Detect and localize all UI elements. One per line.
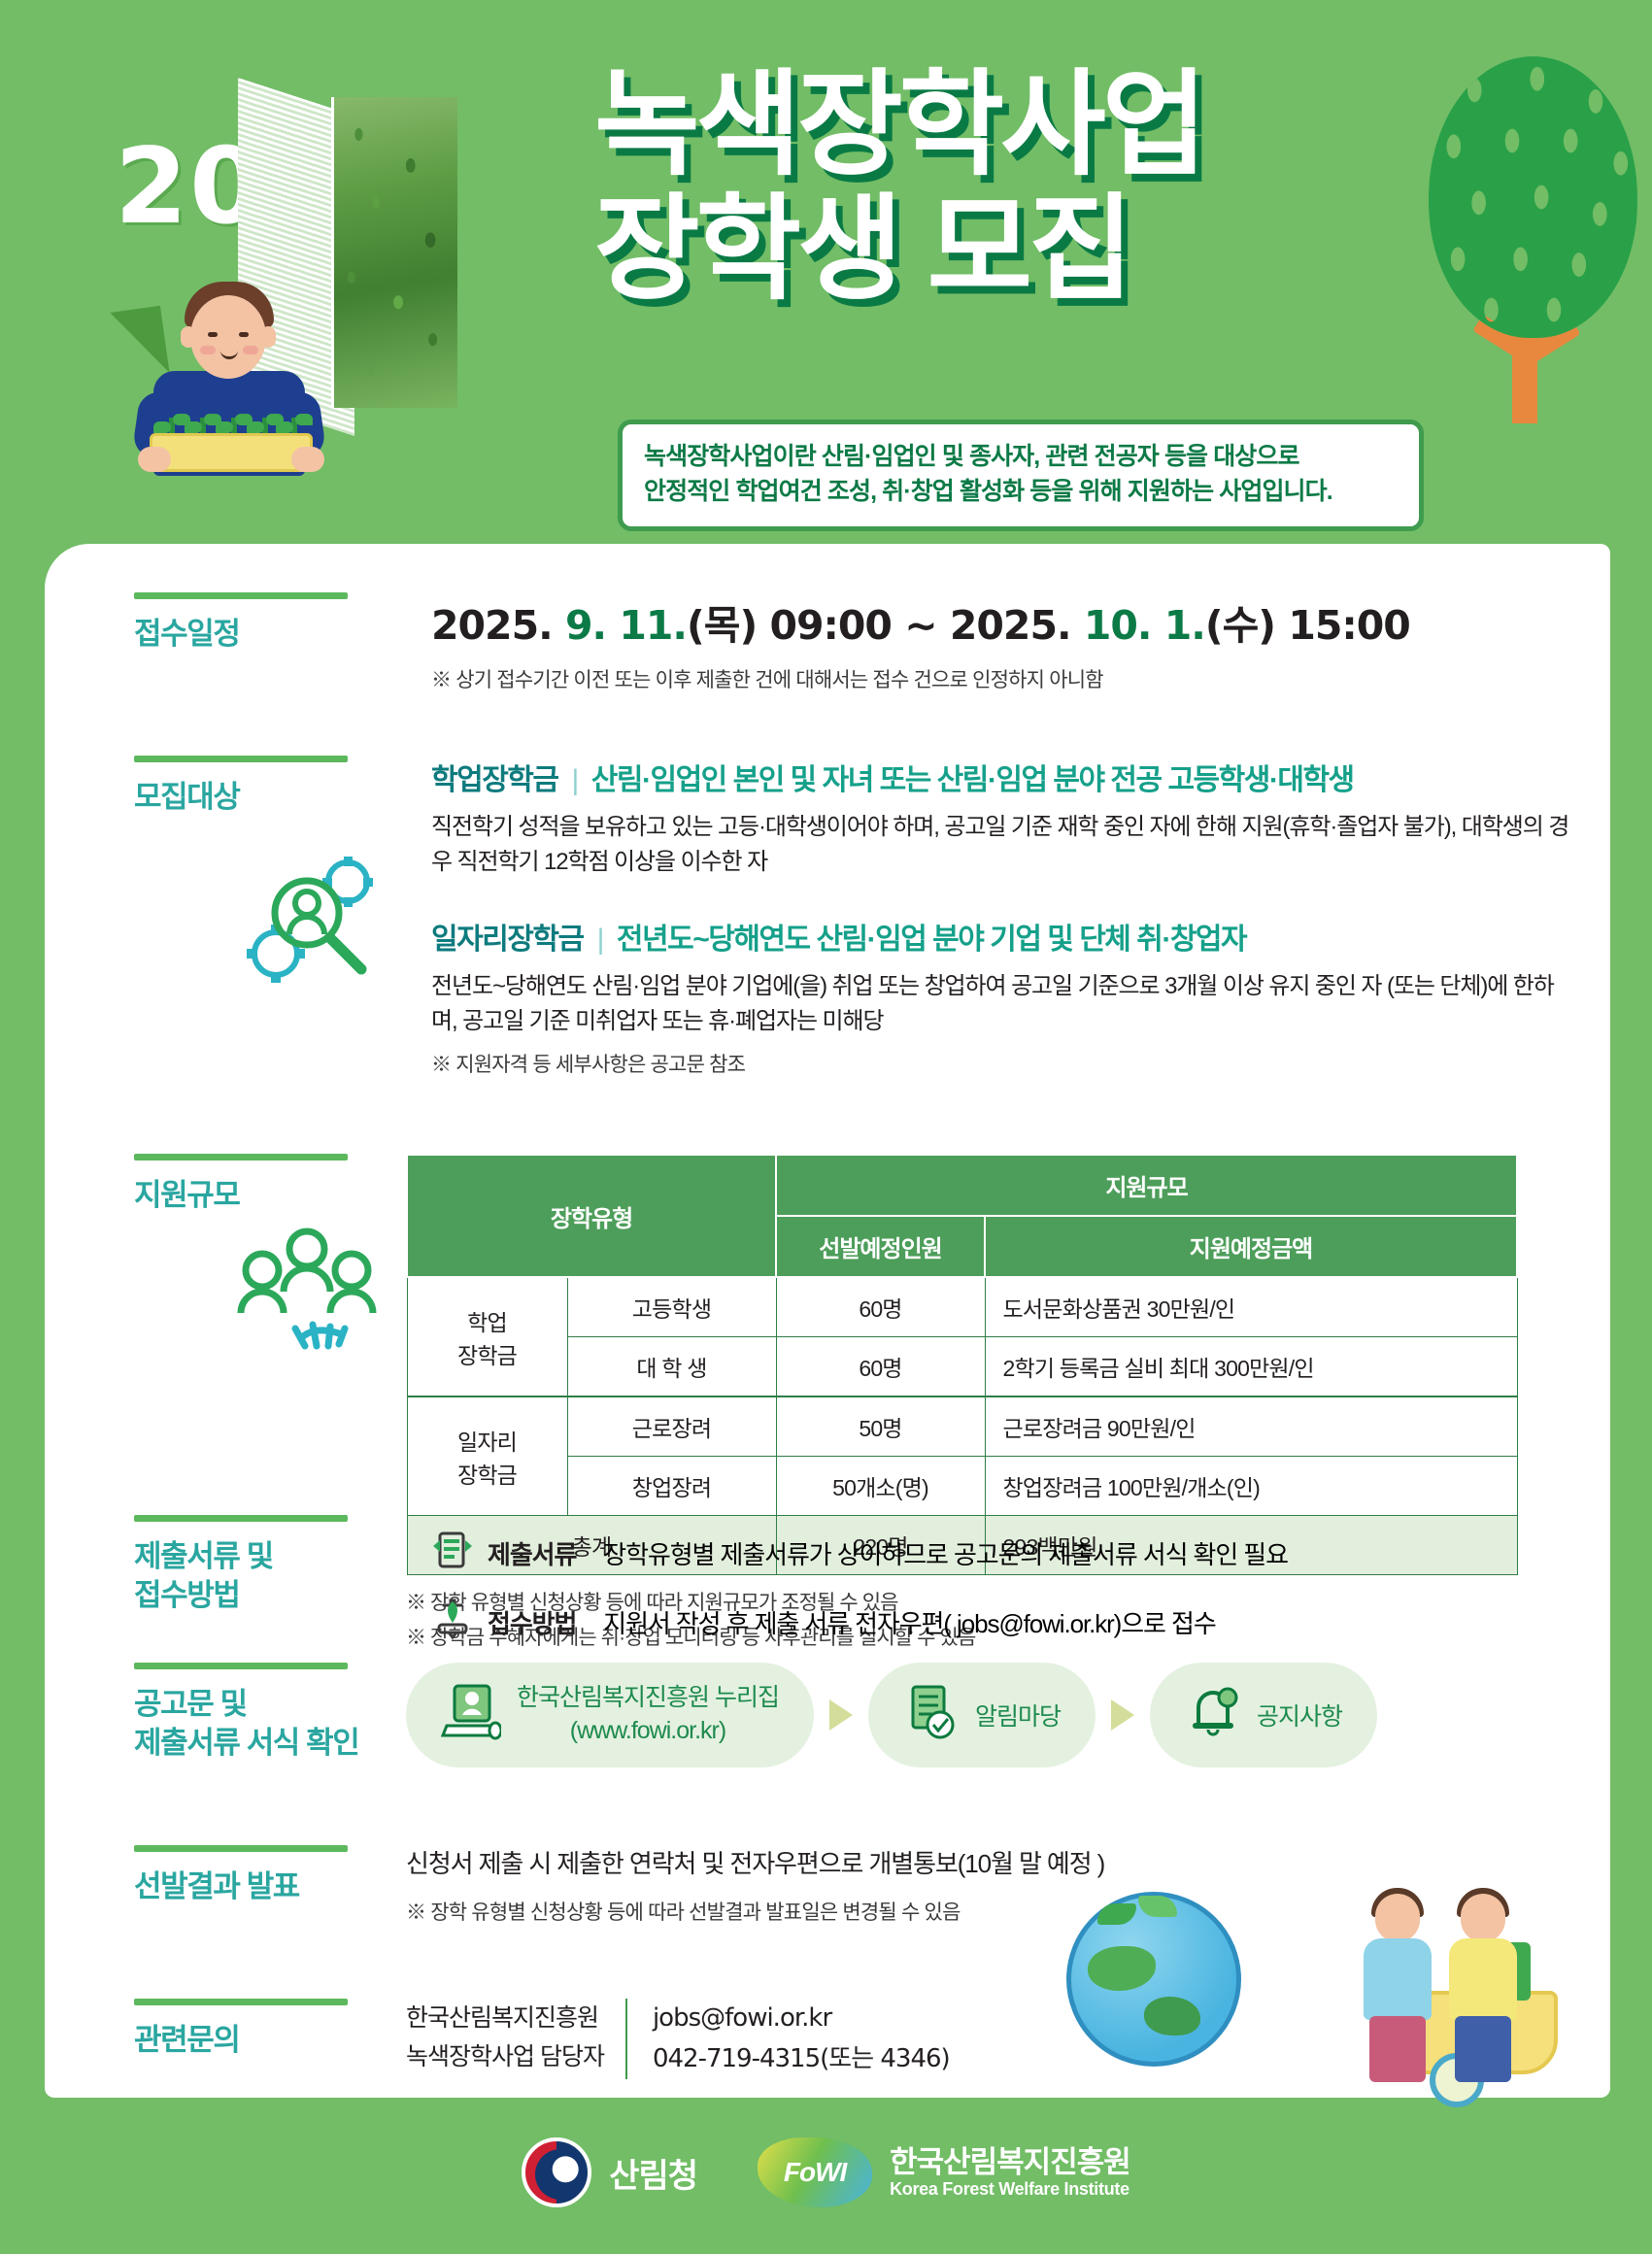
- subtitle-line-2: 안정적인 학업여건 조성, 취·창업 활성화 등을 위해 지원하는 사업입니다.: [644, 475, 1398, 510]
- fowi-name-ko: 한국산림복지진흥원: [890, 2145, 1130, 2180]
- th-planned-amount: 지원예정금액: [985, 1216, 1517, 1277]
- cell-count: 60명: [776, 1337, 985, 1397]
- cell-count: 50개소(명): [776, 1457, 985, 1516]
- person-with-seedlings-illustration: [107, 270, 369, 484]
- table-row: 창업장려 50개소(명) 창업장려금 100만원/개소(인): [407, 1457, 1517, 1516]
- arrow-right-icon: [829, 1699, 853, 1731]
- title-line-1: 녹색장학사업: [594, 66, 1449, 186]
- korea-forest-service-logo: 산림청: [522, 2137, 697, 2207]
- divider-bar-icon: |: [584, 924, 617, 956]
- cell-type: 창업장려: [567, 1457, 776, 1516]
- table-row: 학업장학금 고등학생 60명 도서문화상품권 30만원/인: [407, 1277, 1517, 1337]
- target-content: 학업장학금|산림·임업인 본인 및 자녀 또는 산림·임업 분야 전공 고등학생…: [431, 756, 1577, 1078]
- notice-label-col: 공고문 및 제출서류 서식 확인: [134, 1663, 382, 1762]
- documents-content: 제출서류 장학유형별 제출서류가 상이하므로 공고문의 제출서류 서식 확인 필…: [431, 1529, 1577, 1647]
- taeguk-icon: [522, 2137, 591, 2207]
- section-divider: [134, 1999, 348, 2005]
- cell-type: 고등학생: [567, 1277, 776, 1337]
- schedule-date-line: 2025. 9. 11.(목) 09:00 ~ 2025. 10. 1.(수) …: [431, 592, 1577, 651]
- bell-icon: [1185, 1684, 1241, 1747]
- upload-mail-icon: [431, 1598, 474, 1647]
- cell-group-academic: 학업장학금: [407, 1277, 567, 1396]
- cell-amount-unit: 개소(인): [1187, 1475, 1260, 1500]
- globe-people-illustration: [1037, 1816, 1581, 2107]
- submission-method-row: 접수방법 지원서 작성 후 제출 서류 전자우편( jobs@fowi.or.k…: [431, 1598, 1577, 1647]
- contact-label: 관련문의: [134, 2021, 382, 2060]
- target-item2-desc: 전년도~당해연도 산림·임업 분야 기업 및 단체 취·창업자: [617, 924, 1246, 956]
- scale-label: 지원규모: [134, 1176, 382, 1215]
- poster-footer: 산림청 FoWI 한국산림복지진흥원 Korea Forest Welfare …: [0, 2137, 1652, 2207]
- target-item1-head: 학업장학금|산림·임업인 본인 및 자녀 또는 산림·임업 분야 전공 고등학생…: [431, 756, 1577, 798]
- documents-required-text: 장학유형별 제출서류가 상이하므로 공고문의 제출서류 서식 확인 필요: [603, 1535, 1288, 1571]
- document-check-icon: [903, 1684, 960, 1747]
- pill-announcements-text: 공지사항: [1257, 1698, 1342, 1733]
- target-item2-body: 전년도~당해연도 산림·임업 분야 기업에(을) 취업 또는 창업하여 공고일 …: [431, 969, 1577, 1039]
- poster-header: 2025 녹색장학사업 장학생 모집 녹색장학사업이란 산림·임업인 및 종사자…: [0, 0, 1652, 563]
- pill-notice-board[interactable]: 알림마당: [868, 1663, 1096, 1767]
- cell-type: 근로장려: [567, 1396, 776, 1457]
- laptop-user-icon: [441, 1683, 501, 1748]
- table-row: 대 학 생 60명 2학기 등록금 실비 최대 300만원/인: [407, 1337, 1517, 1397]
- th-scholarship-type: 장학유형: [407, 1155, 776, 1277]
- documents-label-line1: 제출서류 및: [134, 1539, 273, 1573]
- pill-fowi-line2: (www.fowi.or.kr): [570, 1717, 725, 1744]
- document-list-icon: [431, 1529, 474, 1578]
- th-support-scale: 지원규모: [776, 1155, 1517, 1216]
- notice-content: 한국산림복지진흥원 누리집 (www.fowi.or.kr): [406, 1663, 1552, 1767]
- section-documents: 제출서류 및 접수방법 제출서류 장학유형별 제출서류가 상이하므로 공고문의 …: [45, 1515, 1610, 1653]
- person-search-gears-icon: [239, 853, 385, 993]
- documents-required-row: 제출서류 장학유형별 제출서류가 상이하므로 공고문의 제출서류 서식 확인 필…: [431, 1529, 1577, 1578]
- pill-announcements[interactable]: 공지사항: [1150, 1663, 1377, 1767]
- date-start-rest: (목) 09:00 ~ 2025.: [687, 602, 1084, 649]
- content-card: 접수일정 2025. 9. 11.(목) 09:00 ~ 2025. 10. 1…: [45, 544, 1610, 2098]
- th-planned-count: 선발예정인원: [776, 1216, 985, 1277]
- cell-amount-text: 도서문화상품권 30만원/: [1003, 1296, 1215, 1322]
- target-label-col: 모집대상: [134, 756, 382, 817]
- contact-phone[interactable]: 042-719-4315(또는 4346): [653, 2039, 950, 2080]
- cell-amount-text: 근로장려금 90만원/: [1003, 1416, 1176, 1441]
- target-item1-desc: 산림·임업인 본인 및 자녀 또는 산림·임업 분야 전공 고등학생·대학생: [591, 764, 1354, 796]
- schedule-note: ※ 상기 접수기간 이전 또는 이후 제출한 건에 대해서는 접수 건으로 인정…: [431, 664, 1577, 693]
- tree-illustration: [1419, 56, 1652, 416]
- notice-label-line1: 공고문 및: [134, 1687, 247, 1721]
- cell-amount: 2학기 등록금 실비 최대 300만원/인: [985, 1337, 1517, 1397]
- cell-amount-unit: 인: [1175, 1416, 1195, 1441]
- contact-details: jobs@fowi.or.kr 042-719-4315(또는 4346): [625, 1999, 950, 2079]
- cell-type: 대 학 생: [567, 1337, 776, 1397]
- pill-fowi-line1: 한국산림복지진흥원 누리집: [517, 1684, 779, 1711]
- people-group-hand-icon: [229, 1224, 385, 1355]
- schedule-label: 접수일정: [134, 615, 382, 654]
- documents-required-title: 제출서류: [488, 1535, 576, 1571]
- contact-org-line1: 한국산림복지진흥원: [406, 1999, 604, 2037]
- subtitle-line-1: 녹색장학사업이란 산림·임업인 및 종사자, 관련 전공자 등을 대상으로: [644, 440, 1398, 475]
- date-start-highlight: 9. 11.: [565, 602, 687, 649]
- section-divider: [134, 1154, 348, 1161]
- table-row: 일자리장학금 근로장려 50명 근로장려금 90만원/인: [407, 1396, 1517, 1457]
- date-prefix: 2025.: [431, 602, 565, 649]
- cell-amount-text: 2학기 등록금 실비 최대 300만원/: [1003, 1356, 1295, 1381]
- target-item2-head: 일자리장학금|전년도~당해연도 산림·임업 분야 기업 및 단체 취·창업자: [431, 915, 1577, 958]
- cell-amount: 도서문화상품권 30만원/인: [985, 1277, 1517, 1337]
- notice-path-pills: 한국산림복지진흥원 누리집 (www.fowi.or.kr): [406, 1663, 1552, 1767]
- divider-bar-icon: |: [558, 764, 591, 796]
- cell-amount-unit: 인: [1215, 1296, 1234, 1322]
- documents-label: 제출서류 및 접수방법: [134, 1537, 382, 1614]
- fowi-name-en: Korea Forest Welfare Institute: [890, 2179, 1130, 2200]
- schedule-label-col: 접수일정: [134, 592, 382, 654]
- fowi-text: 한국산림복지진흥원 Korea Forest Welfare Institute: [890, 2145, 1130, 2201]
- contact-org-line2: 녹색장학사업 담당자: [406, 2037, 604, 2076]
- target-item1-body: 직전학기 성적을 보유하고 있는 고등·대학생이어야 하며, 공고일 기준 재학…: [431, 810, 1577, 880]
- schedule-content: 2025. 9. 11.(목) 09:00 ~ 2025. 10. 1.(수) …: [431, 592, 1577, 693]
- pill-fowi-website-text: 한국산림복지진흥원 누리집 (www.fowi.or.kr): [517, 1682, 779, 1748]
- contact-email[interactable]: jobs@fowi.or.kr: [653, 1999, 950, 2039]
- date-end-rest: (수) 15:00: [1205, 602, 1410, 649]
- arrow-right-icon: [1111, 1699, 1134, 1731]
- documents-label-line2: 접수방법: [134, 1578, 239, 1612]
- cell-amount-unit: 인: [1294, 1356, 1313, 1381]
- pill-fowi-website[interactable]: 한국산림복지진흥원 누리집 (www.fowi.or.kr): [406, 1663, 814, 1767]
- section-divider: [134, 1515, 348, 1522]
- section-divider: [134, 756, 348, 762]
- cell-amount-text: 창업장려금 100만원/: [1003, 1475, 1188, 1500]
- scale-label-col: 지원규모: [134, 1154, 382, 1215]
- target-label: 모집대상: [134, 778, 382, 817]
- pill-notice-board-text: 알림마당: [975, 1698, 1061, 1733]
- title-line-2: 장학생 모집: [594, 190, 1449, 311]
- cell-amount: 근로장려금 90만원/인: [985, 1396, 1517, 1457]
- fowi-mark-icon: FoWI: [758, 2137, 872, 2207]
- submission-method-title: 접수방법: [488, 1604, 576, 1640]
- target-item1-title: 학업장학금: [431, 764, 558, 796]
- target-item2-title: 일자리장학금: [431, 924, 584, 956]
- cell-count: 50명: [776, 1396, 985, 1457]
- cell-group-job: 일자리장학금: [407, 1396, 567, 1516]
- submission-method-text: 지원서 작성 후 제출 서류 전자우편( jobs@fowi.or.kr)으로 …: [603, 1604, 1215, 1640]
- forest-service-name: 산림청: [609, 2149, 697, 2197]
- support-scale-table: 장학유형 지원규모 선발예정인원 지원예정금액 학업장학금 고등학생 60명 도…: [406, 1154, 1518, 1575]
- documents-label-col: 제출서류 및 접수방법: [134, 1515, 382, 1614]
- subtitle-box: 녹색장학사업이란 산림·임업인 및 종사자, 관련 전공자 등을 대상으로 안정…: [618, 420, 1424, 531]
- cell-count: 60명: [776, 1277, 985, 1337]
- contact-org: 한국산림복지진흥원 녹색장학사업 담당자: [406, 1999, 625, 2079]
- section-divider: [134, 592, 348, 599]
- fowi-logo: FoWI 한국산림복지진흥원 Korea Forest Welfare Inst…: [758, 2137, 1130, 2207]
- cell-amount: 창업장려금 100만원/개소(인): [985, 1457, 1517, 1516]
- section-divider: [134, 1663, 348, 1669]
- notice-label: 공고문 및 제출서류 서식 확인: [134, 1685, 382, 1762]
- notice-label-line2: 제출서류 서식 확인: [134, 1726, 358, 1760]
- section-divider: [134, 1845, 348, 1852]
- result-label-col: 선발결과 발표: [134, 1845, 382, 1906]
- target-note: ※ 지원자격 등 세부사항은 공고문 참조: [431, 1049, 1577, 1078]
- result-label: 선발결과 발표: [134, 1867, 382, 1906]
- date-end-highlight: 10. 1.: [1084, 602, 1205, 649]
- poster-title: 녹색장학사업 장학생 모집: [594, 66, 1449, 311]
- fowi-mark-text: FoWI: [784, 2157, 846, 2188]
- contact-label-col: 관련문의: [134, 1999, 382, 2060]
